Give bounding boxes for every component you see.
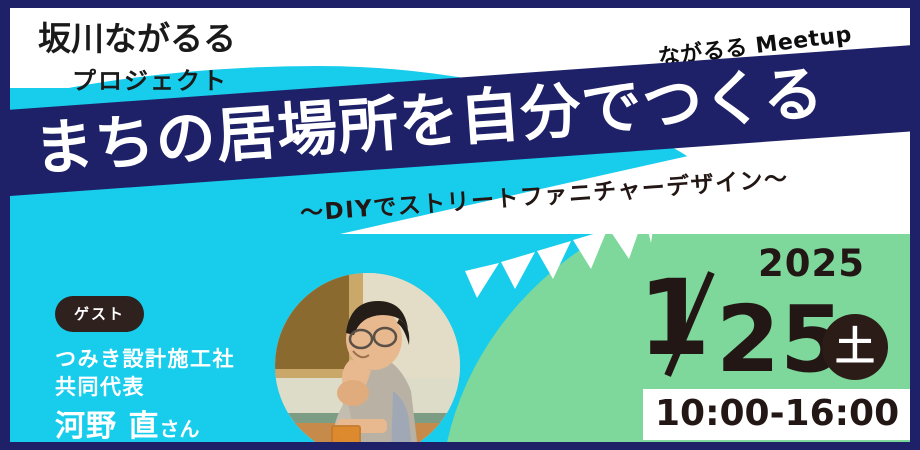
guest-name-text: 河野 直	[55, 409, 159, 442]
logo-line-2: プロジェクト	[72, 61, 236, 96]
event-date: 1 25 土	[638, 266, 910, 386]
guest-name-honorific: さん	[159, 417, 199, 441]
guest-organization: つみき設計施工社 共同代表	[55, 345, 235, 402]
event-flyer: 坂川ながるる プロジェクト ながるる Meetup まちの居場所を自分でつくる …	[0, 0, 920, 450]
flyer-canvas: 坂川ながるる プロジェクト ながるる Meetup まちの居場所を自分でつくる …	[10, 8, 910, 442]
event-time: 10:00-16:00	[643, 389, 910, 440]
event-weekday-badge: 土	[822, 314, 888, 380]
project-logo: 坂川ながるる プロジェクト	[38, 22, 236, 96]
guest-org-line-2: 共同代表	[55, 373, 235, 401]
guest-org-line-1: つみき設計施工社	[55, 345, 235, 373]
guest-name: 河野 直さん	[55, 401, 199, 442]
guest-badge: ゲスト	[55, 296, 144, 332]
bunting-garland-icon	[465, 213, 655, 318]
logo-line-1: 坂川ながるる	[38, 22, 236, 57]
